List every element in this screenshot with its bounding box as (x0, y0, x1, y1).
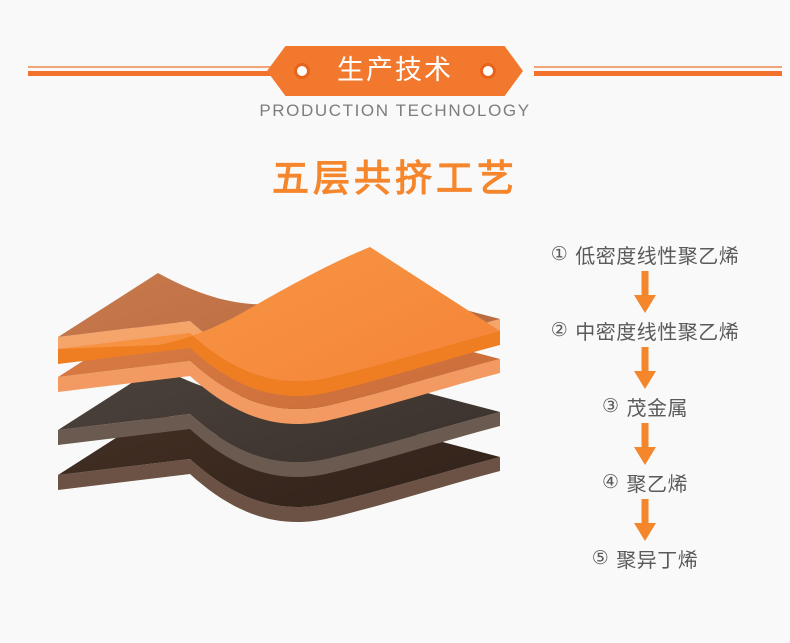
header-rule-left-thin (28, 66, 276, 68)
header-banner: 生产技术 (267, 46, 523, 96)
process-list: ① 低密度线性聚乙烯 ② 中密度线性聚乙烯 ③ (520, 240, 770, 572)
list-item-label: 聚乙烯 (627, 468, 689, 497)
down-arrow-icon (634, 271, 656, 313)
header-section: 生产技术 PRODUCTION TECHNOLOGY (0, 0, 790, 140)
list-item-row-1: ① 低密度线性聚乙烯 (520, 240, 770, 268)
list-item: ④ 聚乙烯 (602, 468, 688, 496)
banner-title: 生产技术 (337, 57, 453, 86)
list-item-row-5: ⑤ 聚异丁烯 (520, 544, 770, 572)
list-item-number: ⑤ (592, 547, 610, 570)
page-title: 五层共挤工艺 (0, 148, 790, 202)
list-item-label: 低密度线性聚乙烯 (575, 240, 739, 269)
arrow-3-wrap (520, 420, 770, 468)
list-item-label: 聚异丁烯 (616, 544, 698, 573)
list-item: ⑤ 聚异丁烯 (592, 544, 699, 572)
list-item-number: ② (551, 319, 569, 342)
list-item-label: 茂金属 (627, 392, 689, 421)
header-rule-right (534, 66, 782, 76)
header-rule-left-thick (28, 71, 276, 76)
page-root: 生产技术 PRODUCTION TECHNOLOGY 五层共挤工艺 (0, 0, 790, 643)
header-subtitle: PRODUCTION TECHNOLOGY (0, 101, 790, 121)
list-item-number: ④ (602, 471, 620, 494)
header-rule-left (28, 66, 276, 76)
list-item-row-3: ③ 茂金属 (520, 392, 770, 420)
list-item: ② 中密度线性聚乙烯 (551, 316, 740, 344)
list-item-row-2: ② 中密度线性聚乙烯 (520, 316, 770, 344)
arrow-2-wrap (520, 344, 770, 392)
down-arrow-icon (634, 423, 656, 465)
list-item-row-4: ④ 聚乙烯 (520, 468, 770, 496)
five-layer-stack-illustration (30, 225, 530, 545)
list-item-label: 中密度线性聚乙烯 (575, 316, 739, 345)
stack-svg (30, 225, 530, 545)
header-rule-right-thin (534, 66, 782, 68)
list-item: ③ 茂金属 (602, 392, 688, 420)
list-item-number: ① (551, 243, 569, 266)
arrow-4-wrap (520, 496, 770, 544)
list-item: ① 低密度线性聚乙烯 (551, 240, 740, 268)
down-arrow-icon (634, 347, 656, 389)
banner-dot-right-icon (480, 63, 496, 79)
header-rule-right-thick (534, 71, 782, 76)
arrow-1-wrap (520, 268, 770, 316)
list-item-number: ③ (602, 395, 620, 418)
banner-dot-left-icon (294, 63, 310, 79)
down-arrow-icon (634, 499, 656, 541)
